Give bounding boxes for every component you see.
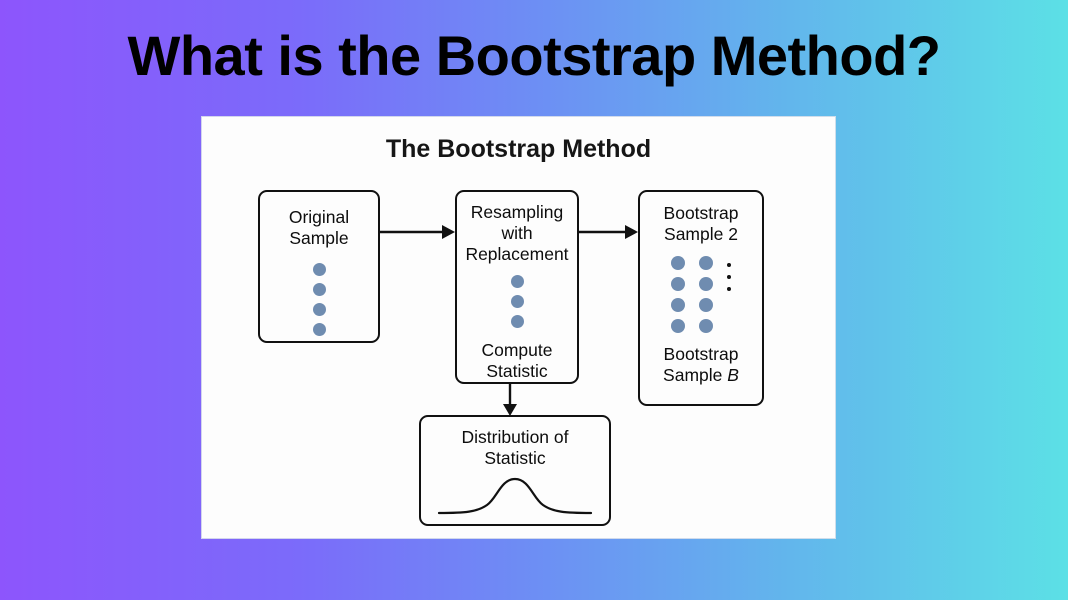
bell-curve-chart xyxy=(421,471,609,517)
page-title: What is the Bootstrap Method? xyxy=(0,17,1068,95)
data-point-dot xyxy=(699,277,713,291)
data-point-dot xyxy=(699,319,713,333)
ellipsis-dot xyxy=(727,275,731,279)
node-compute-statistic-label: Compute Statistic xyxy=(457,340,577,382)
node-original-sample-label: Original Sample xyxy=(260,207,378,249)
node-original-sample[interactable]: Original Sample xyxy=(258,190,380,343)
data-point-dot xyxy=(511,295,524,308)
bootstrap-dot-column xyxy=(671,256,685,333)
node-bootstrap-sample-b-label: Bootstrap Sample B xyxy=(640,344,762,386)
original-sample-dots xyxy=(260,263,378,336)
data-point-dot xyxy=(671,256,685,270)
ellipsis-dot xyxy=(727,263,731,267)
arrow-original-to-resample xyxy=(380,222,456,242)
bell-curve-icon xyxy=(435,471,595,517)
data-point-dot xyxy=(671,319,685,333)
arrow-resample-to-bootstrap xyxy=(579,222,639,242)
bootstrap-dot-column xyxy=(699,256,713,333)
ellipsis-icon xyxy=(727,256,731,291)
node-distribution[interactable]: Distribution of Statistic xyxy=(419,415,611,526)
resampling-dots xyxy=(457,275,577,328)
node-bootstrap-sample-b-symbol: B xyxy=(727,365,739,385)
node-distribution-label: Distribution of Statistic xyxy=(421,427,609,469)
arrow-resample-to-distribution xyxy=(500,384,520,417)
node-resampling[interactable]: Resampling with Replacement Compute Stat… xyxy=(455,190,579,384)
data-point-dot xyxy=(671,277,685,291)
diagram-card: The Bootstrap Method Original Sample Res… xyxy=(202,117,835,538)
diagram-title: The Bootstrap Method xyxy=(202,135,835,164)
data-point-dot xyxy=(313,323,326,336)
data-point-dot xyxy=(313,303,326,316)
data-point-dot xyxy=(313,263,326,276)
node-resampling-label: Resampling with Replacement xyxy=(457,202,577,265)
ellipsis-dot xyxy=(727,287,731,291)
data-point-dot xyxy=(511,275,524,288)
data-point-dot xyxy=(313,283,326,296)
data-point-dot xyxy=(699,256,713,270)
bootstrap-sample-dot-grid xyxy=(640,256,762,333)
data-point-dot xyxy=(671,298,685,312)
node-bootstrap-samples[interactable]: Bootstrap Sample 2 xyxy=(638,190,764,406)
slide-canvas: What is the Bootstrap Method? The Bootst… xyxy=(0,0,1068,600)
data-point-dot xyxy=(511,315,524,328)
node-bootstrap-sample-2-label: Bootstrap Sample 2 xyxy=(640,203,762,245)
data-point-dot xyxy=(699,298,713,312)
